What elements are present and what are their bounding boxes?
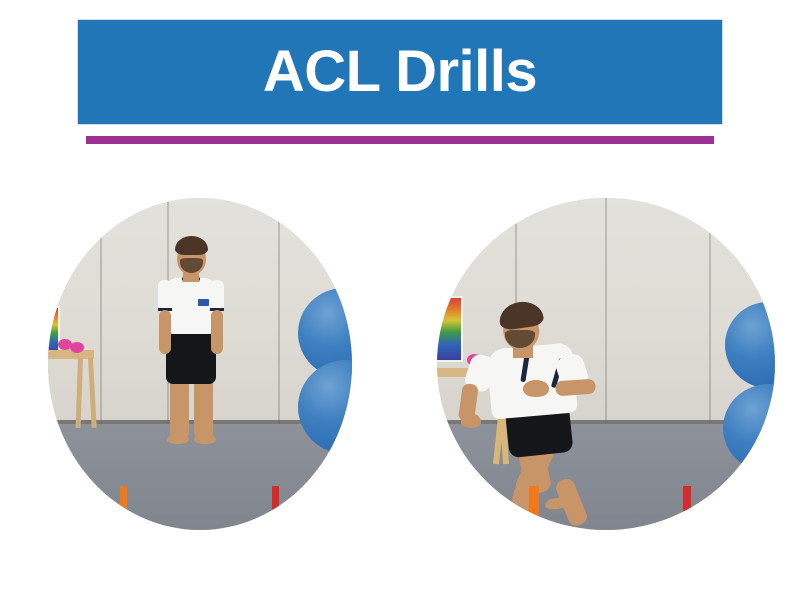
colour-poster <box>437 296 463 362</box>
hair <box>175 236 208 255</box>
colour-poster <box>48 306 60 356</box>
forearm-left <box>159 310 171 354</box>
polo-shirt <box>167 278 215 334</box>
chest-logo <box>198 299 209 306</box>
accent-divider <box>86 136 714 144</box>
photo-standing-start-position <box>48 198 352 530</box>
foot-right <box>194 434 216 444</box>
cone-red <box>683 486 691 512</box>
gym-scene-cutting <box>437 198 775 530</box>
hand-right <box>523 380 549 397</box>
forearm-right <box>211 310 223 354</box>
wall-seam <box>605 198 607 424</box>
hand-left <box>461 414 481 428</box>
foot-left <box>167 434 189 444</box>
leg-right <box>194 376 213 438</box>
pink-dumbbell <box>70 342 84 353</box>
leg-left <box>170 376 189 438</box>
cone-red <box>272 486 279 510</box>
page-title: ACL Drills <box>263 43 537 101</box>
photo-cutting-drill-position <box>437 198 775 530</box>
title-banner: ACL Drills <box>78 20 722 124</box>
shorts <box>166 328 216 384</box>
wall-seam <box>100 198 102 424</box>
gym-scene-standing <box>48 198 352 530</box>
wall-seam <box>709 198 711 424</box>
cone-orange <box>120 486 127 510</box>
forearm-right <box>555 379 596 397</box>
wall-seam <box>278 198 280 424</box>
cone-orange <box>529 486 539 516</box>
gym-wall <box>437 198 775 424</box>
